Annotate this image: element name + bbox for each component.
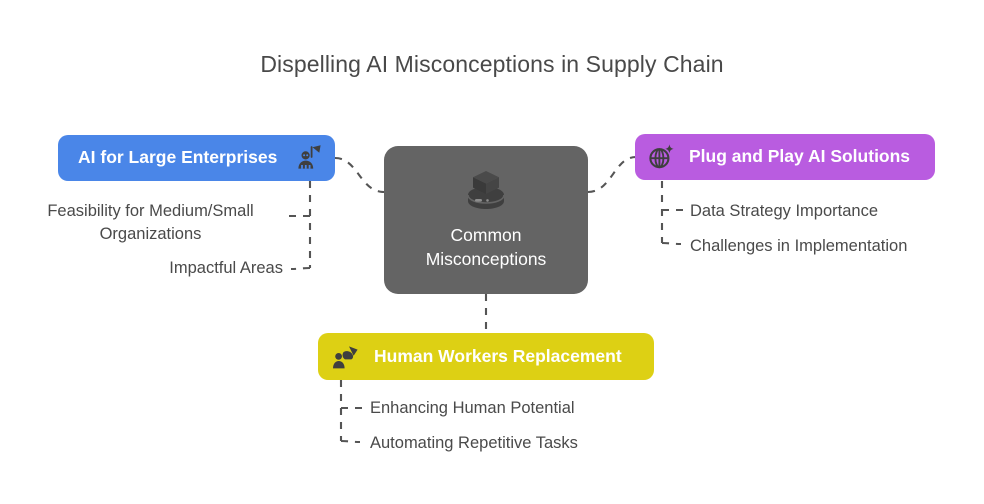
mindmap-canvas: Dispelling AI Misconceptions in Supply C… (0, 0, 984, 504)
layered-cube-icon (463, 169, 509, 211)
branch-label: Plug and Play AI Solutions (689, 148, 910, 166)
person-robot-icon (332, 343, 360, 371)
connector-center-to-blue (335, 158, 384, 192)
center-node-label: Common Misconceptions (426, 223, 547, 271)
branch-label: Human Workers Replacement (374, 348, 622, 366)
connector-blue-leaf-2 (291, 268, 310, 269)
sub-item-automating-repetitive-tasks: Automating Repetitive Tasks (370, 432, 578, 455)
branch-node-ai-for-large-enterprises[interactable]: AI for Large Enterprises (58, 135, 335, 181)
branch-node-human-workers-replacement[interactable]: Human Workers Replacement (318, 333, 654, 380)
globe-sparkle-icon (647, 143, 675, 171)
connector-center-to-purple (588, 157, 636, 192)
sub-item-data-strategy-importance: Data Strategy Importance (690, 200, 878, 223)
branch-node-plug-and-play-ai-solutions[interactable]: Plug and Play AI Solutions (635, 134, 935, 180)
sub-item-enhancing-human-potential: Enhancing Human Potential (370, 397, 575, 420)
sub-item-feasibility: Feasibility for Medium/Small Organizatio… (18, 200, 283, 246)
sub-item-impactful-areas: Impactful Areas (18, 257, 283, 280)
center-node[interactable]: Common Misconceptions (384, 146, 588, 294)
branch-label: AI for Large Enterprises (78, 149, 277, 167)
page-title: Dispelling AI Misconceptions in Supply C… (0, 51, 984, 78)
connector-yellow-leaf-2 (341, 441, 360, 442)
connector-purple-leaf-2 (662, 243, 681, 244)
sub-item-challenges-in-implementation: Challenges in Implementation (690, 235, 907, 258)
robot-antenna-icon (295, 144, 323, 172)
